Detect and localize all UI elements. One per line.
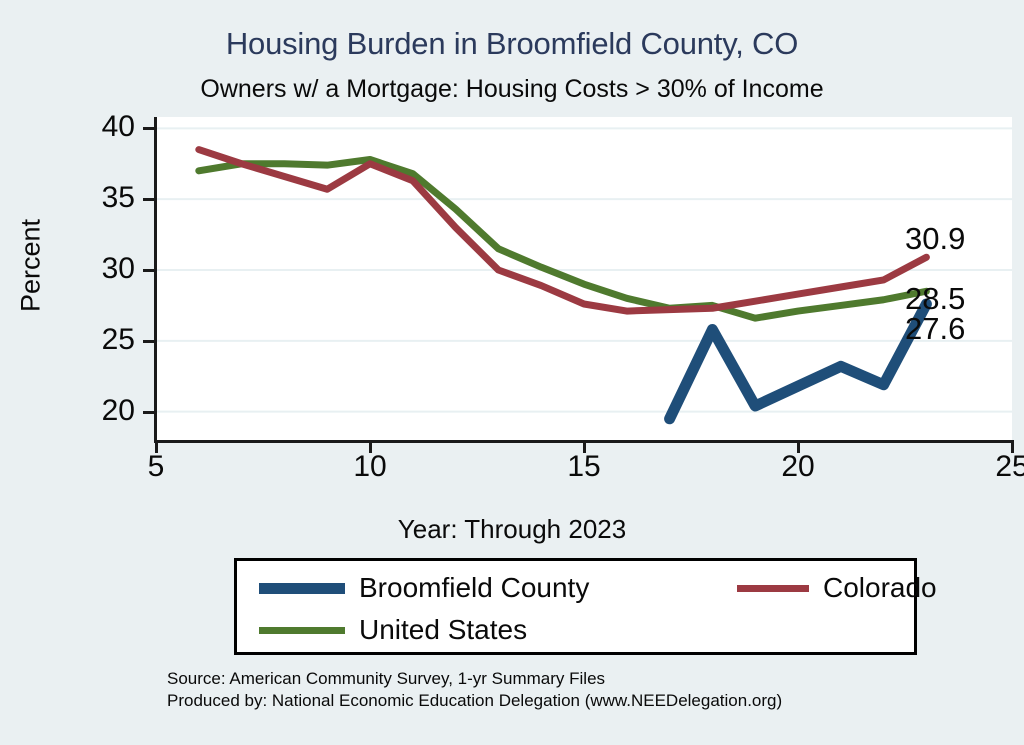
plot-area xyxy=(156,117,1012,440)
legend-entry-broomfield-county[interactable]: Broomfield County xyxy=(259,575,589,601)
x-axis-tick-label: 20 xyxy=(748,452,848,482)
footer: Source: American Community Survey, 1-yr … xyxy=(167,668,782,713)
y-axis-tick xyxy=(143,340,156,343)
y-axis-tick-label: 20 xyxy=(35,396,135,426)
legend-label: Colorado xyxy=(823,574,937,602)
colorado-end-label: 30.9 xyxy=(905,223,965,254)
chart-page: Housing Burden in Broomfield County, CO … xyxy=(0,0,1024,745)
chart-subtitle: Owners w/ a Mortgage: Housing Costs > 30… xyxy=(0,75,1024,104)
legend-label: United States xyxy=(359,616,527,644)
y-axis-tick xyxy=(143,198,156,201)
y-axis-tick xyxy=(143,127,156,130)
y-axis-tick-label: 35 xyxy=(35,183,135,213)
y-axis-tick xyxy=(143,269,156,272)
legend-entry-united-states[interactable]: United States xyxy=(259,617,527,643)
x-axis-tick-label: 15 xyxy=(534,452,634,482)
plot-svg xyxy=(156,117,1012,440)
x-axis-tick-label: 10 xyxy=(320,452,420,482)
legend-swatch-icon xyxy=(259,627,345,634)
y-axis-tick xyxy=(143,411,156,414)
y-axis-title: Percent xyxy=(16,166,47,366)
series-line-broomfield-county xyxy=(670,304,927,419)
y-axis-tick-label: 30 xyxy=(35,254,135,284)
legend-entry-colorado[interactable]: Colorado xyxy=(737,575,937,601)
broomfield-end-label: 27.6 xyxy=(905,313,965,344)
y-axis-tick-label: 40 xyxy=(35,112,135,142)
y-axis-line xyxy=(154,117,157,443)
x-axis-tick-label: 25 xyxy=(962,452,1024,482)
series-line-colorado xyxy=(199,150,927,312)
legend-label: Broomfield County xyxy=(359,574,589,602)
x-axis-tick-label: 5 xyxy=(106,452,206,482)
legend-swatch-icon xyxy=(259,583,345,594)
footer-producer-line: Produced by: National Economic Education… xyxy=(167,690,782,712)
x-axis-title: Year: Through 2023 xyxy=(0,514,1024,545)
page-title: Housing Burden in Broomfield County, CO xyxy=(0,26,1024,62)
footer-source-line: Source: American Community Survey, 1-yr … xyxy=(167,668,782,690)
legend: Broomfield CountyColoradoUnited States xyxy=(234,558,917,655)
united-states-end-label: 28.5 xyxy=(905,283,965,314)
y-axis-tick-label: 25 xyxy=(35,325,135,355)
legend-swatch-icon xyxy=(737,585,809,592)
